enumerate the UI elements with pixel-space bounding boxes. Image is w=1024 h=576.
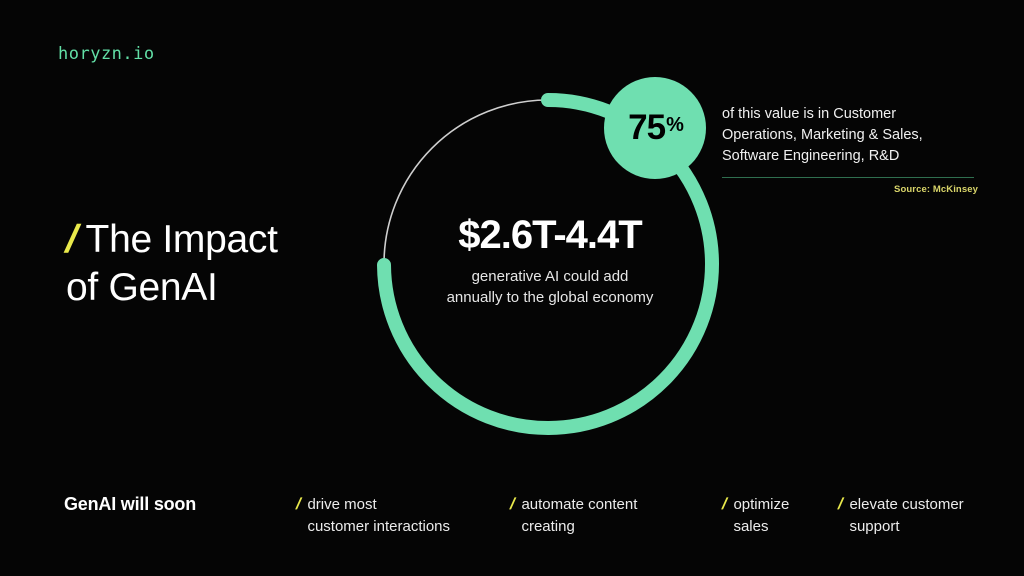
donut-center-value: $2.6T-4.4T <box>370 213 730 258</box>
annotation-divider <box>722 177 974 178</box>
footer-item-1-text: drive most customer interactions <box>307 494 450 538</box>
footer-item-1-line-2: customer interactions <box>307 518 450 535</box>
footer-item-3-line-1: optimize <box>733 496 789 513</box>
percent-bubble-value: 75 <box>628 108 665 148</box>
footer-item-1: / drive most customer interactions <box>296 494 492 538</box>
footer-item-4-text: elevate customer support <box>849 494 963 538</box>
footer-item-2: / automate content creating <box>510 494 696 538</box>
footer-item-3-line-2: sales <box>733 518 768 535</box>
title-line-2: of GenAI <box>66 264 376 312</box>
donut-subtitle-line-2: annually to the global economy <box>370 287 730 308</box>
footer-item-3-text: optimize sales <box>733 494 789 538</box>
slash-marker-icon: / <box>64 216 78 264</box>
footer-item-2-line-1: automate content <box>521 496 637 513</box>
percent-bubble: 75% <box>604 77 706 179</box>
footer-item-2-text: automate content creating <box>521 494 637 538</box>
footer-item-4: / elevate customer support <box>838 494 1008 538</box>
slide-canvas: horyzn.io /The Impact of GenAI $2.6T-4.4… <box>0 0 1024 576</box>
footer-item-1-line-1: drive most <box>307 496 376 513</box>
annotation-line-3: Software Engineering, R&D <box>722 146 978 167</box>
page-title: /The Impact of GenAI <box>66 216 376 312</box>
donut-center-subtitle: generative AI could add annually to the … <box>370 266 730 308</box>
footer-item-4-line-2: support <box>849 518 899 535</box>
annotation-line-1: of this value is in Customer <box>722 104 978 125</box>
footer-label: GenAI will soon <box>64 494 196 515</box>
slash-marker-icon: / <box>509 494 515 516</box>
footer-item-2-line-2: creating <box>521 518 574 535</box>
slash-marker-icon: / <box>837 494 843 516</box>
footer-strip: GenAI will soon / drive most customer in… <box>0 486 1024 556</box>
percent-bubble-label: 75% <box>604 77 706 179</box>
annotation-block: of this value is in Customer Operations,… <box>722 104 978 195</box>
title-text-1: The Impact <box>86 218 278 261</box>
annotation-source: Source: McKinsey <box>722 184 978 195</box>
donut-subtitle-line-1: generative AI could add <box>370 266 730 287</box>
annotation-text: of this value is in Customer Operations,… <box>722 104 978 167</box>
annotation-line-2: Operations, Marketing & Sales, <box>722 125 978 146</box>
slash-marker-icon: / <box>295 494 301 516</box>
title-line-1: /The Impact <box>66 216 376 264</box>
percent-bubble-unit: % <box>666 114 683 137</box>
footer-item-3: / optimize sales <box>722 494 832 538</box>
footer-item-4-line-1: elevate customer <box>849 496 963 513</box>
brand-logo: horyzn.io <box>58 44 155 64</box>
slash-marker-icon: / <box>721 494 727 516</box>
